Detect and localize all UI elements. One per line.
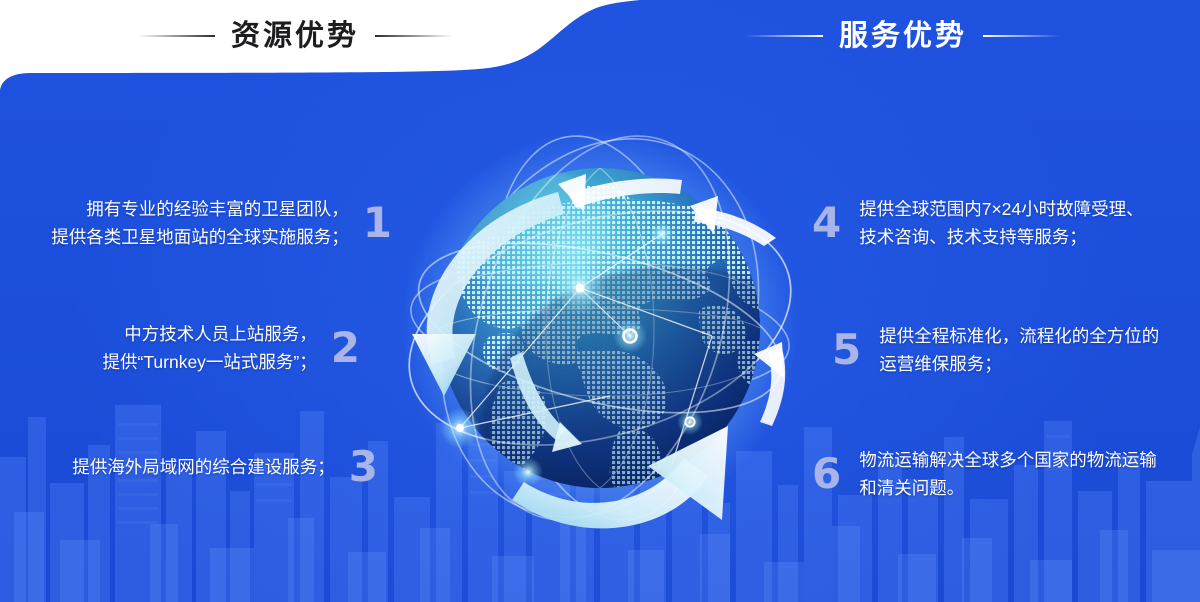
- feature-item-6-number: 6: [812, 453, 841, 495]
- right-section-title: 服务优势: [839, 22, 967, 51]
- feature-item-6-text: 物流运输解决全球多个国家的物流运输 和清关问题。: [841, 446, 1157, 503]
- feature-item-4-text: 提供全球范围内7×24小时故障受理、 技术咨询、技术支持等服务；: [841, 195, 1143, 252]
- section-header-left: 资源优势: [130, 12, 460, 60]
- feature-item-1-text: 拥有专业的经验丰富的卫星团队， 提供各类卫星地面站的全球实施服务；: [51, 195, 363, 252]
- rule-right-icon: [983, 35, 1061, 37]
- rule-right-icon: [375, 35, 453, 37]
- feature-item-5: 5 提供全程标准化，流程化的全方位的 运营维保服务；: [832, 322, 1192, 379]
- feature-item-3: 提供海外局域网的综合建设服务； 3: [0, 446, 378, 488]
- feature-item-5-number: 5: [832, 329, 861, 371]
- feature-item-3-text: 提供海外局域网的综合建设服务；: [72, 453, 349, 481]
- feature-item-4-number: 4: [812, 202, 841, 244]
- feature-item-2-text: 中方技术人员上站服务， 提供“Turnkey一站式服务”；: [103, 320, 331, 377]
- feature-item-5-text: 提供全程标准化，流程化的全方位的 运营维保服务；: [861, 322, 1159, 379]
- feature-item-4: 4 提供全球范围内7×24小时故障受理、 技术咨询、技术支持等服务；: [812, 195, 1192, 252]
- feature-item-2-number: 2: [331, 327, 360, 369]
- slide-canvas: 资源优势 服务优势: [0, 0, 1200, 602]
- feature-item-1: 拥有专业的经验丰富的卫星团队， 提供各类卫星地面站的全球实施服务； 1: [0, 195, 392, 252]
- rule-left-icon: [137, 35, 215, 37]
- left-section-title: 资源优势: [231, 22, 359, 51]
- feature-item-2: 中方技术人员上站服务， 提供“Turnkey一站式服务”； 2: [0, 320, 360, 377]
- rule-left-icon: [745, 35, 823, 37]
- feature-item-6: 6 物流运输解决全球多个国家的物流运输 和清关问题。: [812, 446, 1192, 503]
- feature-item-1-number: 1: [363, 202, 392, 244]
- section-header-right: 服务优势: [738, 12, 1068, 60]
- globe-network-illustration: [372, 96, 828, 548]
- feature-item-3-number: 3: [349, 446, 378, 488]
